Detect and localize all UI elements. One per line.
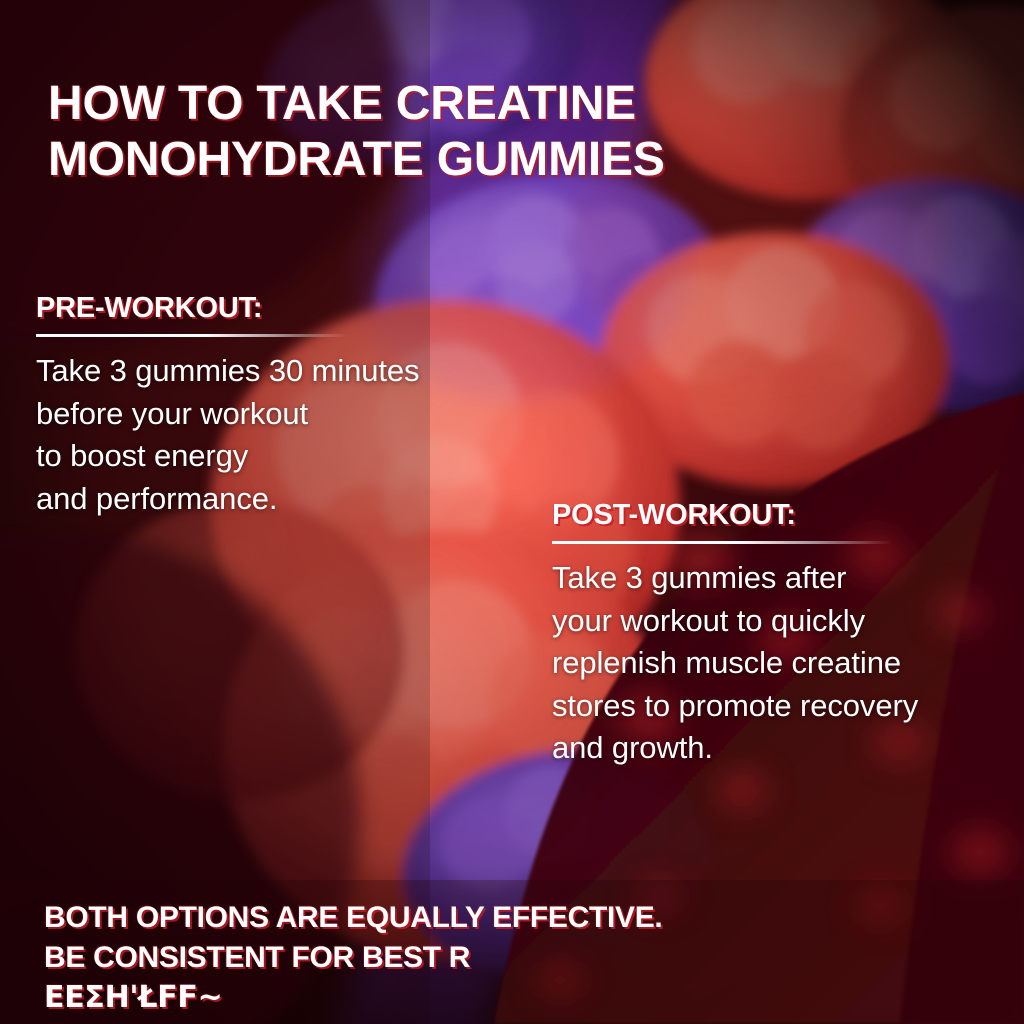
footer-glitched-word: EEƩH'ŁFF~ [44,980,222,1015]
footer-line-1: BOTH OPTIONS ARE EQUALLY EFFECTIVE. [44,898,984,938]
page-title-line-2: MONOHYDRATE GUMMIES [48,132,928,188]
footer-line-2-text: BE CONSISTENT FOR BEST R [44,938,984,978]
body-line: stores to promote recovery [552,685,1004,727]
section-body-post-workout: Take 3 gummies after your workout to qui… [552,557,1004,769]
section-pre-workout: PRE-WORKOUT: Take 3 gummies 30 minutes b… [36,293,536,520]
body-line: Take 3 gummies 30 minutes [36,350,536,392]
section-heading-post-workout: POST-WORKOUT: [552,500,1004,530]
body-line: your workout to quickly [552,600,1004,642]
body-line: replenish muscle creatine [552,642,1004,684]
section-post-workout: POST-WORKOUT: Take 3 gummies after your … [552,500,1004,770]
page-title: HOW TO TAKE CREATINE MONOHYDRATE GUMMIES [48,76,928,187]
body-line: Take 3 gummies after [552,557,1004,599]
heading-rule-pre-workout [36,334,348,337]
body-line: and performance. [36,478,536,520]
footer-callout: BOTH OPTIONS ARE EQUALLY EFFECTIVE. BE C… [44,898,984,1018]
body-line: to boost energy [36,435,536,477]
body-line: before your workout [36,393,536,435]
section-body-pre-workout: Take 3 gummies 30 minutes before your wo… [36,350,536,520]
footer-line-2: BE CONSISTENT FOR BEST REEƩH'ŁFF~ [44,938,984,1018]
poster-canvas: HOW TO TAKE CREATINE MONOHYDRATE GUMMIES… [0,0,1024,1024]
heading-rule-post-workout [552,541,892,544]
page-title-line-1: HOW TO TAKE CREATINE [48,76,928,132]
body-line: and growth. [552,727,1004,769]
section-heading-pre-workout: PRE-WORKOUT: [36,293,536,323]
